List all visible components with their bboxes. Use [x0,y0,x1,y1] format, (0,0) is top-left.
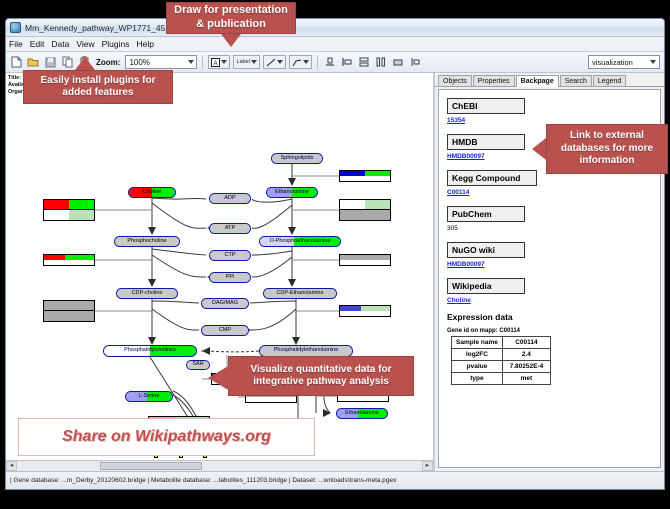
chevron-down-icon [221,60,227,64]
node-fill-right [365,171,390,176]
gene-node[interactable]: Sgpl1 [339,170,391,182]
node-label: PPi [226,275,235,281]
table-cell-key: pvalue [452,361,503,373]
chevron-down-icon [303,60,309,64]
gene-node[interactable]: ChkbChka [43,199,95,221]
table-cell-value: 7.80252E-4 [502,361,550,373]
gene-node-row: Etnk2 [340,210,390,220]
node-fill-right [365,200,390,209]
metabolite-node[interactable]: CMP [201,325,249,336]
chevron-down-icon [188,60,194,64]
node-label: Choline [143,190,162,196]
zoom-value: 100% [129,58,149,67]
node-label: Sphingolipids [281,156,314,162]
node-label: Phosphatidylcholines [124,348,176,354]
gene-node[interactable]: Etnk1Etnk2 [339,199,391,221]
menu-item-help[interactable]: Help [137,39,154,49]
align-left-icon[interactable] [340,55,354,70]
node-fill-right [361,306,390,311]
label-dropdown-text: Label [236,59,249,65]
metabolite-node[interactable]: PPi [209,272,251,283]
gene-node-row: Cept1 [340,306,390,311]
screenshot-root: Mm_Kennedy_pathway_WP1771_45176.gpml Fil… [0,0,670,509]
metabolite-node[interactable]: Ethanolamine [266,187,318,198]
node-fill-right [69,210,94,220]
node-fill-left [340,255,390,260]
tab-properties[interactable]: Properties [473,75,515,86]
visualization-combo[interactable]: visualization [588,55,660,69]
tab-legend[interactable]: Legend [593,75,626,86]
node-fill-right [65,255,94,260]
gene-node-row: Pcyt1a [44,311,94,321]
statusbar-text: | Gene database: ...m_Derby_20120602.bri… [10,477,396,484]
node-label: CDP-choline [132,291,163,297]
metabolite-node[interactable]: Choline [128,187,176,198]
node-fill-left [44,255,65,260]
ungroup-icon[interactable] [408,55,422,70]
chevron-down-icon [650,60,656,64]
table-row: Sample nameC00114 [452,337,551,349]
node-label: CTP [225,253,236,259]
gene-node-row: Pcyt2 [340,255,390,260]
window-titlebar: Mm_Kennedy_pathway_WP1771_45176.gpml [6,19,664,37]
pathvisio-icon [10,22,21,33]
node-fill-left [340,210,390,220]
node-fill-left [340,200,365,209]
align-top-icon[interactable] [323,55,337,70]
zoom-label: Zoom: [96,58,120,67]
visualize-callout: Visualize quantitative data for integrat… [228,356,414,396]
menubar: File Edit Data View Plugins Help [6,37,664,52]
metabolite-node[interactable]: SAH [186,360,210,370]
visualization-value: visualization [592,58,633,67]
backpage-section-heading: Wikipedia [447,278,525,294]
table-cell-value: met [502,373,550,385]
draw-callout-arrow [221,34,241,47]
backpage-section-heading: ChEBI [447,98,525,114]
node-label: Ethanolamine [345,411,379,417]
node-label: Phosphocholine [127,239,166,245]
node-fill-left [44,200,69,209]
share-callout-text: Share on Wikipathways.org [62,428,271,446]
draw-callout: Draw for presentation & publication [166,2,296,34]
expression-data-table: Sample nameC00114log2FC2.4pvalue7.80252E… [451,336,551,385]
visualize-callout-arrow [208,365,230,391]
node-fill-left [340,306,361,311]
gene-node-row: Sgpl1 [340,171,390,176]
gene-node-row: Pcyt1b [44,301,94,311]
chevron-down-icon [277,60,283,64]
backpage-external-link[interactable]: Choline [447,297,660,304]
node-label: Ethanolamine [275,190,309,196]
gene-node-row: Chka [44,210,94,220]
node-fill-left [340,171,365,176]
menu-item-data[interactable]: Data [51,39,69,49]
tab-search[interactable]: Search [560,75,592,86]
node-label: L-Serine [139,394,160,400]
plugins-callout-arrow [75,57,95,70]
scroll-right-arrow[interactable]: ► [422,461,433,471]
metabolite-node[interactable]: DAG/MAG [201,298,249,309]
table-cell-key: Sample name [452,337,503,349]
backpage-external-link[interactable]: HMDB00097 [447,261,660,268]
scroll-left-arrow[interactable]: ◄ [6,461,17,471]
side-panel-tabs: ObjectsPropertiesBackpageSearchLegend [435,73,664,87]
menu-item-edit[interactable]: Edit [30,39,45,49]
metabolite-node[interactable]: Sphingolipids [271,153,323,164]
node-fill-left [44,311,94,321]
scroll-thumb[interactable] [100,462,202,470]
node-label: ATP [225,226,235,232]
chevron-down-icon [251,60,257,64]
toolbar-separator [317,55,318,69]
external-db-callout-arrow [532,138,546,160]
distribute-icon[interactable] [374,55,388,70]
node-label: DAG/MAG [212,301,238,307]
toolbar-separator [202,55,203,69]
metabolite-node[interactable]: Phosphatidylcholines [103,345,197,357]
metabolite-node[interactable]: CTP [209,250,251,261]
share-callout: Share on Wikipathways.org [18,418,315,456]
plugins-callout: Easily install plugins for added feature… [23,70,173,104]
metabolite-node[interactable]: O-Phosphoethanolamine [259,236,341,247]
node-fill-right [69,200,94,209]
save-icon[interactable] [43,55,57,70]
node-fill-left [44,301,94,310]
metabolite-node[interactable]: Phosphocholine [114,236,180,247]
pathway-nodes-layer: CholineSphingolipidsEthanolamineADPATPPh… [6,73,435,471]
expression-data-title: Expression data [447,312,660,322]
node-label: O-Phosphoethanolamine [270,239,331,245]
metabolite-node[interactable]: ATP [209,223,251,234]
canvas-hscrollbar[interactable]: ◄ ► [6,460,433,471]
label-dropdown[interactable]: Label [233,55,259,69]
backpage-section-heading: PubChem [447,206,525,222]
gene-node[interactable]: Pcyt1bPcyt1a [43,300,95,322]
tab-backpage[interactable]: Backpage [516,75,559,87]
interaction-dropdown[interactable] [289,55,312,69]
stack-center-icon[interactable] [357,55,371,70]
datanode-shape-dropdown[interactable]: A [208,55,230,69]
gene-node-row: Chpt1 [44,255,94,260]
backpage-value: 305 [447,225,660,232]
node-label: ADP [224,196,235,202]
node-label: CMP [219,328,231,334]
zoom-combo[interactable]: 100% [125,55,197,69]
copy-icon[interactable] [60,55,74,70]
gene-node[interactable]: Chpt1 [43,254,95,266]
node-label: SAH [192,362,203,368]
gene-node-row: Chkb [44,200,94,210]
line-dropdown[interactable] [263,55,286,69]
metabolite-node[interactable]: CDP-choline [116,288,178,299]
external-db-callout: Link to external databases for more info… [546,124,668,174]
new-file-icon[interactable] [9,55,23,70]
node-label: Phosphatidylethanolamine [274,348,339,354]
metabolite-node[interactable]: Ethanolamine [336,408,388,419]
table-cell-value: 2.4 [502,349,550,361]
menu-item-plugins[interactable]: Plugins [102,39,130,49]
table-cell-key: type [452,373,503,385]
gene-id-line: Gene id on mapp: C00114 [447,328,660,334]
gene-node-row: Etnk1 [340,200,390,210]
metabolite-node[interactable]: CDP-Ethanolamine [263,288,337,299]
menu-item-view[interactable]: View [76,39,94,49]
table-row: typemet [452,373,551,385]
statusbar: | Gene database: ...m_Derby_20120602.bri… [6,471,664,489]
backpage-section-heading: Kegg Compound [447,170,537,186]
table-row: pvalue7.80252E-4 [452,361,551,373]
node-fill-left [44,210,69,220]
group-icon[interactable] [391,55,405,70]
table-cell-key: log2FC [452,349,503,361]
pathway-canvas[interactable]: Title: Availa Organi [6,73,435,471]
backpage-external-link[interactable]: 15354 [447,117,660,124]
backpage-external-link[interactable]: C00114 [447,189,660,196]
tab-objects[interactable]: Objects [438,75,472,86]
backpage-section-heading: NuGO wiki [447,242,525,258]
svg-text:A: A [214,61,218,67]
table-row: log2FC2.4 [452,349,551,361]
backpage-section-heading: HMDB [447,134,525,150]
node-label: CDP-Ethanolamine [276,291,323,297]
table-cell-value: C00114 [502,337,550,349]
gene-node[interactable]: Cept1 [339,305,391,317]
open-folder-icon[interactable] [26,55,40,70]
metabolite-node[interactable]: L-Serine [125,391,173,402]
gene-node[interactable]: Pcyt2 [339,254,391,266]
menu-item-file[interactable]: File [9,39,23,49]
metabolite-node[interactable]: ADP [209,193,251,204]
